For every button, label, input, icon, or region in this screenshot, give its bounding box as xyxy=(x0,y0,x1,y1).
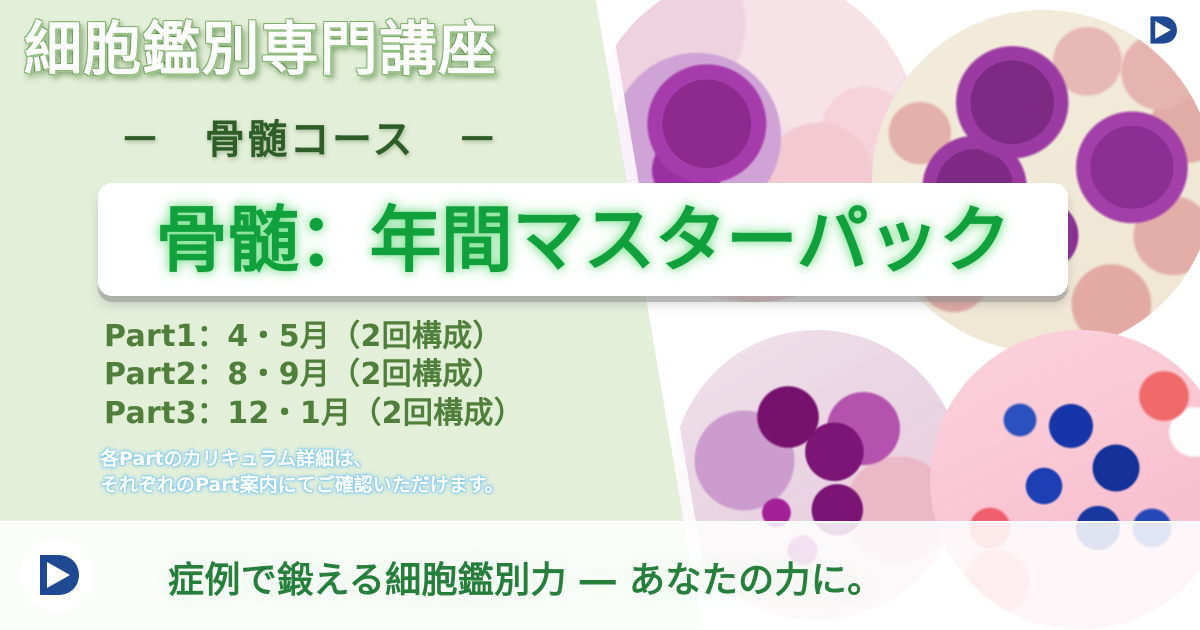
list-item: Part1：4・5月（2回構成） xyxy=(104,318,524,356)
curriculum-note: 各Partのカリキュラム詳細は、 それぞれのPart案内にてご確認いただけます。 xyxy=(100,446,504,498)
page-title: 骨髄：年間マスターパック xyxy=(98,204,1068,276)
part-schedule-list: Part1：4・5月（2回構成） Part2：8・9月（2回構成） Part3：… xyxy=(104,318,524,433)
micrograph-blasts-top-right xyxy=(872,10,1200,352)
course-subtitle: － 骨髄コース － xyxy=(120,120,500,160)
curriculum-note-line1: 各Partのカリキュラム詳細は、 xyxy=(100,446,504,472)
footer-bar: 症例で鍛える細胞鑑別力 ― あなたの力に。 xyxy=(0,521,1200,630)
curriculum-note-line2: それぞれのPart案内にてご確認いただけます。 xyxy=(100,472,504,498)
logo-d-mark xyxy=(20,538,94,612)
list-item: Part3：12・1月（2回構成） xyxy=(104,395,524,433)
title-banner: 骨髄：年間マスターパック xyxy=(98,183,1068,296)
course-kicker: 細胞鑑別専門講座 xyxy=(24,20,497,78)
footer-tagline: 症例で鍛える細胞鑑別力 ― あなたの力に。 xyxy=(168,551,884,603)
list-item: Part2：8・9月（2回構成） xyxy=(104,356,524,394)
logo-d-mark-corner xyxy=(1142,10,1182,50)
promo-banner: 細胞鑑別専門講座 － 骨髄コース － 骨髄：年間マスターパック Part1：4・… xyxy=(0,0,1200,630)
